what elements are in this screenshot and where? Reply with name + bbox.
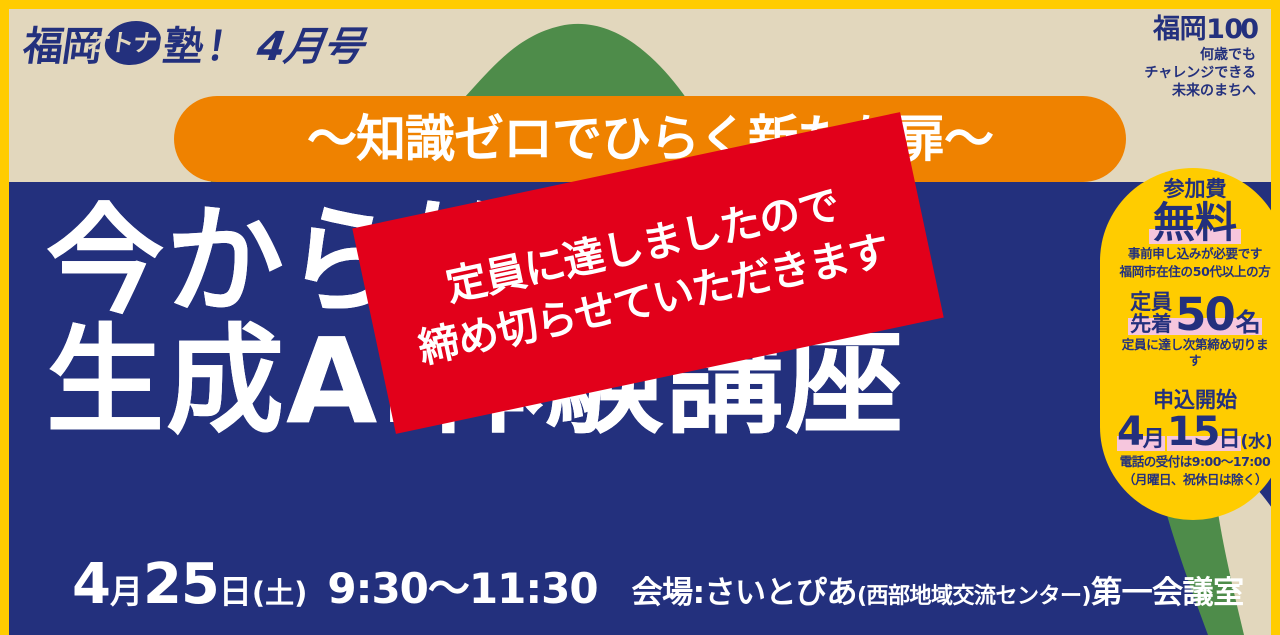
- frame-right-border: [1271, 0, 1280, 635]
- venue-label: 会場:さいとぴあ: [632, 575, 857, 611]
- info-blob: 参加費 無料 事前申し込みが必要です 福岡市在住の50代以上の方 定員 先着 5…: [1100, 168, 1280, 520]
- application-date-row: 4 月 15 日 (水): [1116, 413, 1274, 451]
- capacity-row: 定員 先着 50 名: [1116, 291, 1274, 335]
- application-day: 15: [1167, 413, 1219, 451]
- brand-tagline-line-2: チャレンジできる: [1144, 65, 1256, 83]
- fee-note-2: 福岡市在住の50代以上の方: [1116, 264, 1274, 280]
- event-month-unit: 月: [110, 575, 143, 608]
- event-day: 25: [143, 557, 219, 613]
- frame-top-border: [0, 0, 1280, 9]
- frame-left-border: [0, 0, 9, 635]
- application-note-1: 電話の受付は9:00〜17:00: [1116, 454, 1274, 470]
- event-weekday: (土): [252, 579, 308, 608]
- application-day-unit: 日: [1218, 429, 1240, 451]
- capacity-unit: 名: [1235, 310, 1262, 335]
- info-blob-content: 参加費 無料 事前申し込みが必要です 福岡市在住の50代以上の方 定員 先着 5…: [1100, 168, 1280, 520]
- magazine-logo: 福岡 オトナビ 塾 ！ 4月号: [20, 14, 367, 72]
- capacity-note: 定員に達し次第締め切ります: [1116, 337, 1274, 368]
- application-weekday: (水): [1241, 434, 1274, 451]
- application-month-unit: 月: [1143, 429, 1165, 451]
- application-note-2: （月曜日、祝休日は除く）: [1116, 472, 1274, 488]
- capacity-section: 定員 先着 50 名 定員に達し次第締め切ります: [1116, 291, 1274, 368]
- fee-note-1: 事前申し込みが必要です: [1116, 246, 1274, 262]
- event-day-unit: 日: [219, 575, 252, 608]
- brand-tagline: 何歳でも チャレンジできる 未来のまちへ: [1144, 47, 1256, 101]
- fee-value: 無料: [1149, 202, 1241, 244]
- brand-tagline-line-1: 何歳でも: [1144, 47, 1256, 65]
- brand-title-double-o: 00: [1224, 14, 1256, 45]
- logo-exclamation: ！: [203, 14, 250, 72]
- capacity-heading-bottom: 先着: [1128, 313, 1174, 335]
- venue-sub-label: (西部地域交流センター): [857, 584, 1091, 609]
- brand-title: 福岡100: [1144, 16, 1256, 44]
- fukuoka100-brand: 福岡100 何歳でも チャレンジできる 未来のまちへ: [1144, 16, 1256, 101]
- brand-tagline-line-3: 未来のまちへ: [1144, 83, 1256, 101]
- logo-issue-label: 4月号: [254, 14, 367, 72]
- event-time: 9:30〜11:30: [327, 568, 597, 610]
- logo-badge-otonavi: オトナビ: [102, 21, 164, 65]
- event-poster: 福岡 オトナビ 塾 ！ 4月号 福岡100 何歳でも チャレンジできる 未来のま…: [0, 0, 1280, 635]
- fee-section: 参加費 無料 事前申し込みが必要です 福岡市在住の50代以上の方: [1116, 178, 1274, 279]
- event-month: 4: [72, 557, 110, 613]
- event-venue: 会場:さいとぴあ(西部地域交流センター)第一会議室: [632, 578, 1244, 609]
- capacity-heading-top: 定員: [1128, 291, 1174, 313]
- venue-room: 第一会議室: [1091, 575, 1244, 611]
- application-section: 申込開始 4 月 15 日 (水) 電話の受付は9:00〜17:00 （月曜日、…: [1116, 389, 1274, 488]
- brand-title-prefix: 福岡1: [1153, 14, 1224, 45]
- capacity-number: 50: [1174, 294, 1235, 335]
- application-month: 4: [1117, 413, 1143, 451]
- schedule-bar: 4 月 25 日 (土) 9:30〜11:30 会場:さいとぴあ(西部地域交流セ…: [0, 557, 1130, 613]
- logo-text-part2: 塾: [160, 14, 207, 72]
- capacity-headings: 定員 先着: [1128, 291, 1174, 335]
